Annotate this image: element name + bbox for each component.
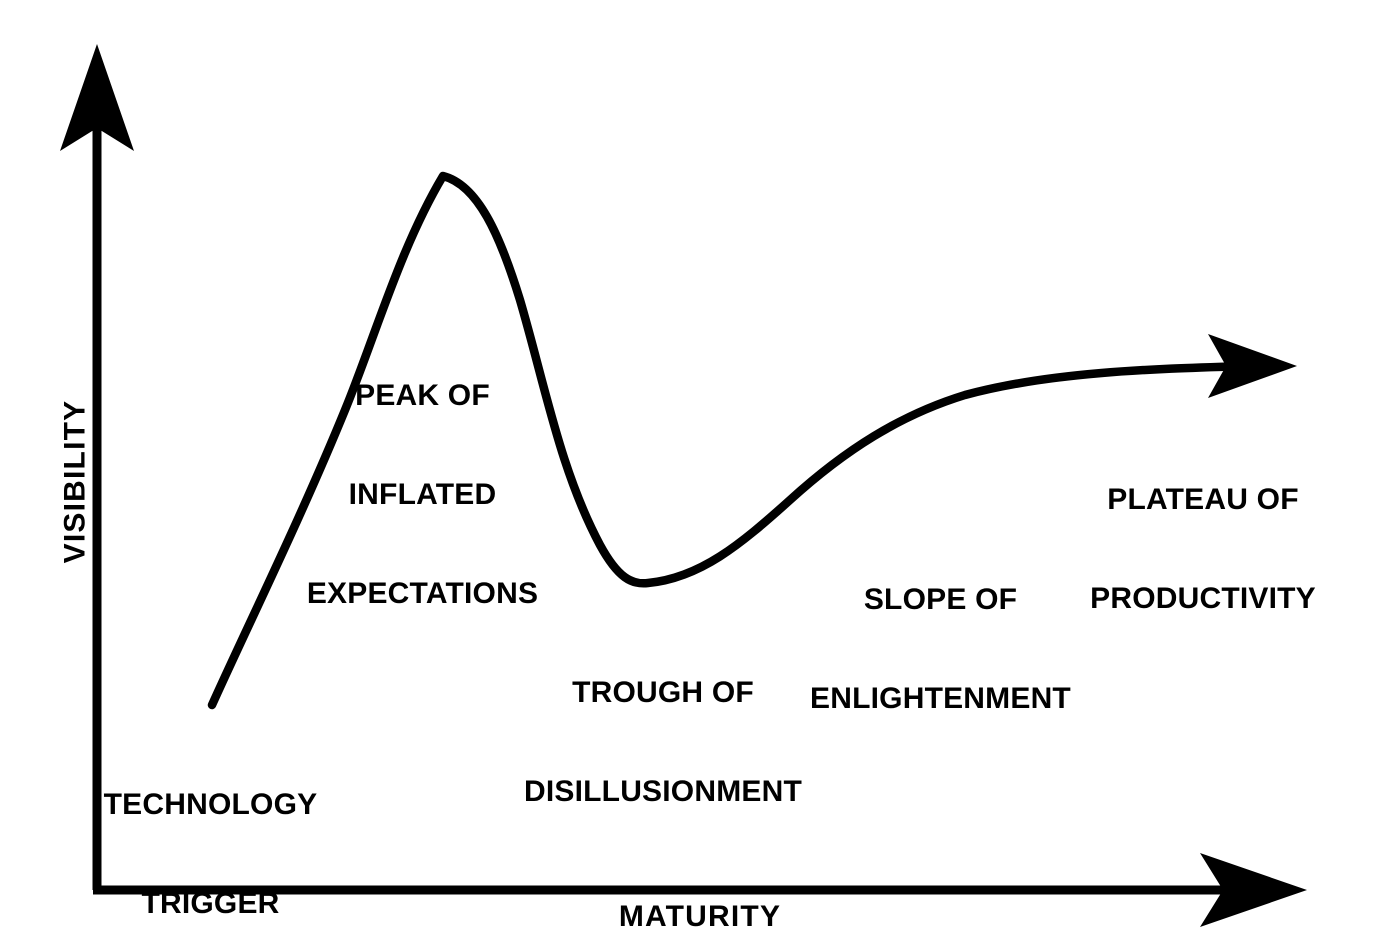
stage-label-trough-of-disillusionment: TROUGH OF DISILLUSIONMENT	[518, 610, 808, 874]
y-axis-label: VISIBILITY	[59, 367, 92, 597]
trough-of-disillusionment-line-2: DISILLUSIONMENT	[518, 775, 808, 808]
plateau-of-productivity-line-1: PLATEAU OF	[1088, 483, 1318, 516]
trough-of-disillusionment-line-1: TROUGH OF	[518, 676, 808, 709]
hype-cycle-diagram: VISIBILITY MATURITY TECHNOLOGY TRIGGER P…	[0, 0, 1400, 952]
plateau-of-productivity-line-2: PRODUCTIVITY	[1088, 582, 1318, 615]
x-axis-label: MATURITY	[555, 900, 845, 933]
stage-label-plateau-of-productivity: PLATEAU OF PRODUCTIVITY	[1088, 417, 1318, 681]
slope-of-enlightenment-line-2: ENLIGHTENMENT	[808, 682, 1073, 715]
stage-label-slope-of-enlightenment: SLOPE OF ENLIGHTENMENT	[808, 517, 1073, 781]
technology-trigger-line-2: TRIGGER	[78, 887, 343, 920]
stage-label-technology-trigger: TECHNOLOGY TRIGGER	[78, 722, 343, 952]
peak-of-inflated-expectations-line-2: INFLATED	[305, 478, 540, 511]
peak-of-inflated-expectations-line-3: EXPECTATIONS	[305, 577, 540, 610]
peak-of-inflated-expectations-line-1: PEAK OF	[305, 379, 540, 412]
slope-of-enlightenment-line-1: SLOPE OF	[808, 583, 1073, 616]
technology-trigger-line-1: TECHNOLOGY	[78, 788, 343, 821]
stage-label-peak-of-inflated-expectations: PEAK OF INFLATED EXPECTATIONS	[305, 313, 540, 676]
